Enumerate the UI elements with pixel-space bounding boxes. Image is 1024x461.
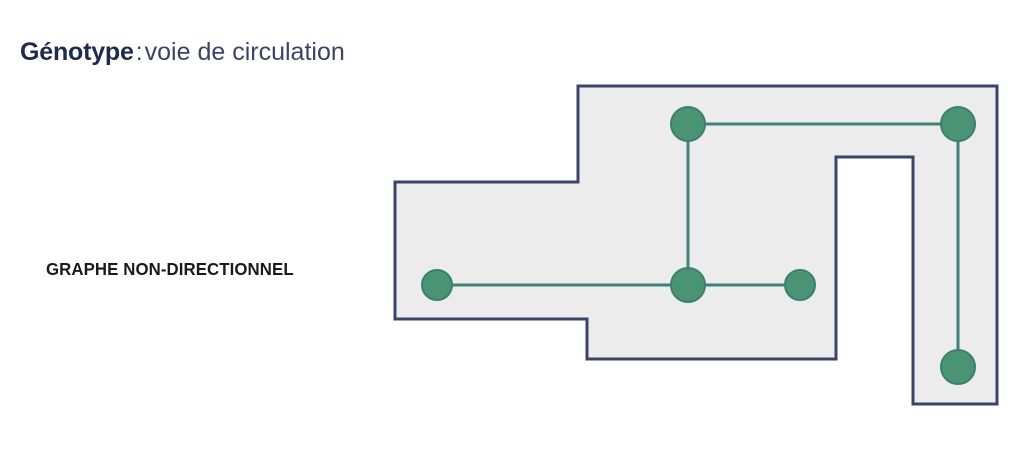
node-east-stub[interactable] (785, 270, 815, 300)
node-southeast[interactable] (941, 350, 975, 384)
node-hub[interactable] (671, 268, 705, 302)
graph-svg (0, 0, 1024, 461)
graph-figure (0, 0, 1024, 461)
node-west[interactable] (422, 270, 452, 300)
node-northeast[interactable] (941, 107, 975, 141)
node-north[interactable] (671, 107, 705, 141)
slide-canvas: Génotype:voie de circulation GRAPHE NON-… (0, 0, 1024, 461)
